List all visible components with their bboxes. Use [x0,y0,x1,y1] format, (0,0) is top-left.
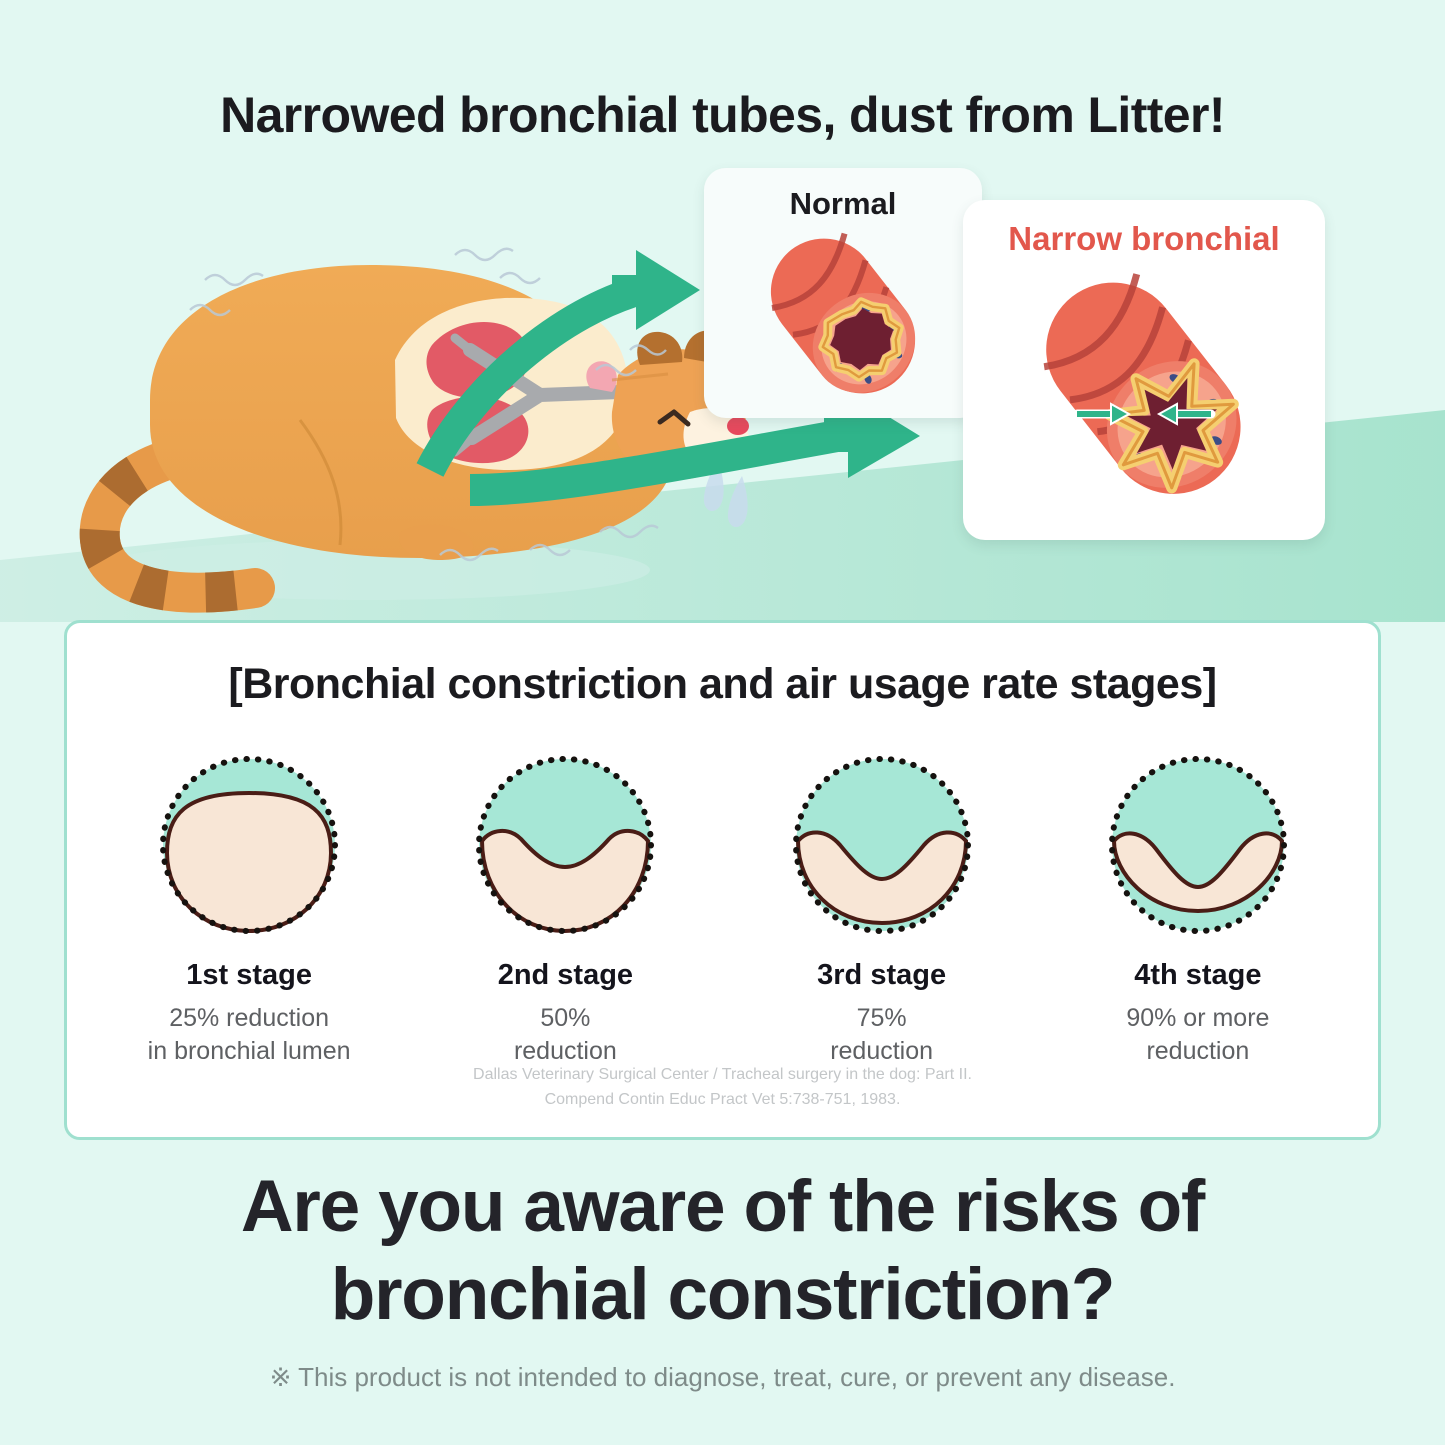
bottom-headline: Are you aware of the risks of bronchial … [0,1163,1445,1339]
panel-normal: Normal [704,168,982,418]
lumen-stage-3-icon [732,745,1032,945]
bronchial-tube-narrow-icon [963,264,1325,514]
page-title: Narrowed bronchial tubes, dust from Litt… [0,86,1445,144]
lumen-stage-2-icon [415,745,715,945]
stage-column-2: 2nd stage 50% reduction [415,745,715,1067]
citation-text: Dallas Veterinary Surgical Center / Trac… [67,1063,1378,1113]
stage-column-1: 1st stage 25% reduction in bronchial lum… [99,745,399,1067]
stage-column-3: 3rd stage 75% reduction [732,745,1032,1067]
lumen-stage-4-icon [1048,745,1348,945]
stage-desc: 25% reduction in bronchial lumen [99,1002,399,1067]
highlighted-text: bronchial constriction? [327,1251,1119,1339]
stage-desc: 90% or more reduction [1048,1002,1348,1067]
bottom-headline-line2: bronchial constriction? [0,1251,1445,1339]
stage-desc: 75% reduction [732,1002,1032,1067]
disclaimer-text: ※ This product is not intended to diagno… [0,1362,1445,1393]
lumen-stage-1-icon [99,745,399,945]
panel-narrow-bronchial: Narrow bronchial [963,200,1325,540]
bottom-headline-line1: Are you aware of the risks of [0,1163,1445,1251]
highlighted-text: Are you aware of the risks of [237,1163,1208,1251]
stages-card: [Bronchial constriction and air usage ra… [64,620,1381,1140]
stages-title: [Bronchial constriction and air usage ra… [67,660,1378,709]
infographic-root: Narrowed bronchial tubes, dust from Litt… [0,0,1445,1445]
stage-column-4: 4th stage 90% or more reduction [1048,745,1348,1067]
panel-normal-title: Normal [704,186,982,222]
stage-name: 3rd stage [732,959,1032,992]
stage-name: 2nd stage [415,959,715,992]
stages-row: 1st stage 25% reduction in bronchial lum… [91,745,1356,1067]
stage-name: 1st stage [99,959,399,992]
stage-name: 4th stage [1048,959,1348,992]
stage-desc: 50% reduction [415,1002,715,1067]
bronchial-tube-normal-icon [704,226,982,406]
panel-narrow-title: Narrow bronchial [963,220,1325,258]
